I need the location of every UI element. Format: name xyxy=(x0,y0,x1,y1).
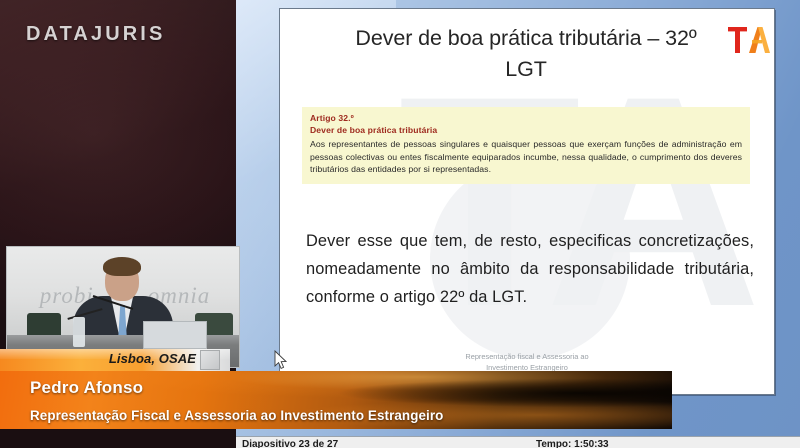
screen-recording-frame: DATAJURIS TA Dever de boa prática tribut… xyxy=(0,0,800,448)
slide-panel[interactable]: TA Dever de boa prática tributária – 32º… xyxy=(279,8,775,395)
elapsed-time: Tempo: 1:50:33 xyxy=(536,439,609,448)
law-article-heading: Dever de boa prática tributária xyxy=(310,125,742,137)
screen-share-icon[interactable] xyxy=(200,350,220,370)
ta-watermark: TA xyxy=(398,61,668,361)
law-article-text: Aos representantes de pessoas singulares… xyxy=(310,138,742,176)
ta-logo-icon xyxy=(726,25,770,55)
slide-body-text: Dever esse que tem, de resto, especifica… xyxy=(306,227,754,311)
presenter-name: Pedro Afonso xyxy=(30,378,143,398)
presentation-subtitle: Representação Fiscal e Assessoria ao Inv… xyxy=(30,408,443,423)
video-speaker-hair xyxy=(103,257,141,276)
player-status-bar: Diapositivo 23 de 27 Tempo: 1:50:33 xyxy=(236,436,800,448)
law-article-number: Artigo 32.º xyxy=(310,113,742,125)
slide-footer-line-1: Representação fiscal e Assessoria ao xyxy=(280,351,774,362)
law-quote-box: Artigo 32.º Dever de boa prática tributá… xyxy=(302,107,750,184)
datajuris-wordmark: DATAJURIS xyxy=(26,23,165,46)
video-water-bottle xyxy=(73,317,85,347)
mouse-pointer-icon xyxy=(274,350,288,370)
slide-counter: Diapositivo 23 de 27 xyxy=(242,439,338,448)
slide-title-line-2: LGT xyxy=(310,54,742,85)
slide-footer: Representação fiscal e Assessoria ao Inv… xyxy=(280,351,774,373)
slide-title-line-1: Dever de boa prática tributária – 32º xyxy=(310,23,742,54)
slide-title: Dever de boa prática tributária – 32º LG… xyxy=(310,23,742,85)
video-laptop xyxy=(143,321,207,349)
location-label: Lisboa, OSAE xyxy=(0,351,196,366)
